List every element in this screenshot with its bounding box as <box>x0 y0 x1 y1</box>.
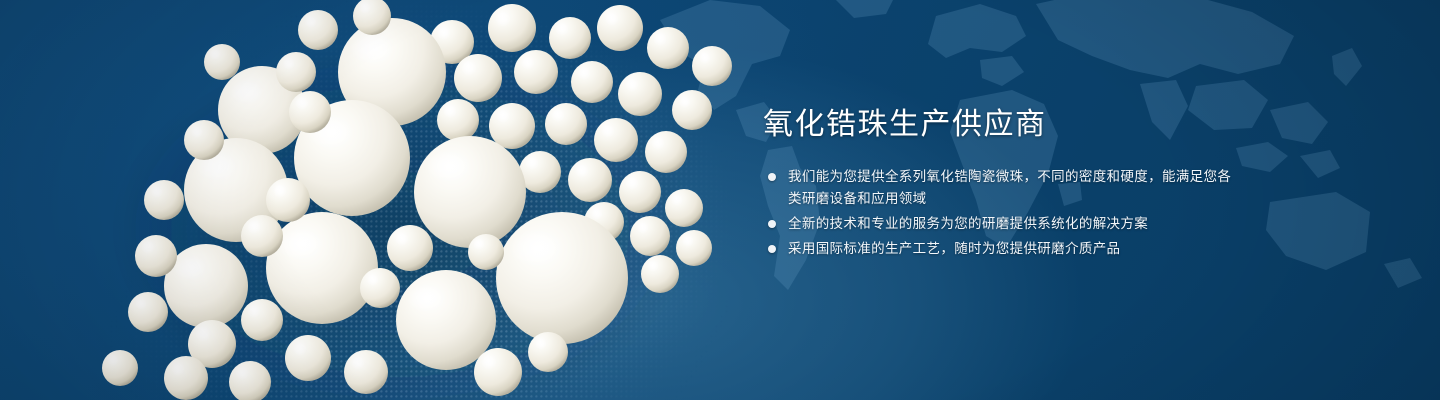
list-item: 全新的技术和专业的服务为您的研磨提供系统化的解决方案 <box>763 213 1233 235</box>
bullet-dot-icon <box>768 173 776 181</box>
bullet-dot-icon <box>768 245 776 253</box>
list-item: 我们能为您提供全系列氧化锆陶瓷微珠，不同的密度和硬度，能满足您各类研磨设备和应用… <box>763 166 1233 210</box>
list-item: 采用国际标准的生产工艺，随时为您提供研磨介质产品 <box>763 238 1233 260</box>
list-item-text: 全新的技术和专业的服务为您的研磨提供系统化的解决方案 <box>788 216 1148 231</box>
feature-list: 我们能为您提供全系列氧化锆陶瓷微珠，不同的密度和硬度，能满足您各类研磨设备和应用… <box>763 166 1233 260</box>
banner-content: 氧化锆珠生产供应商 我们能为您提供全系列氧化锆陶瓷微珠，不同的密度和硬度，能满足… <box>763 108 1233 260</box>
list-item-text: 我们能为您提供全系列氧化锆陶瓷微珠，不同的密度和硬度，能满足您各类研磨设备和应用… <box>788 169 1231 206</box>
list-item-text: 采用国际标准的生产工艺，随时为您提供研磨介质产品 <box>788 241 1120 256</box>
banner-headline: 氧化锆珠生产供应商 <box>763 108 1233 142</box>
hero-banner: 氧化锆珠生产供应商 我们能为您提供全系列氧化锆陶瓷微珠，不同的密度和硬度，能满足… <box>0 0 1440 400</box>
bullet-dot-icon <box>768 220 776 228</box>
